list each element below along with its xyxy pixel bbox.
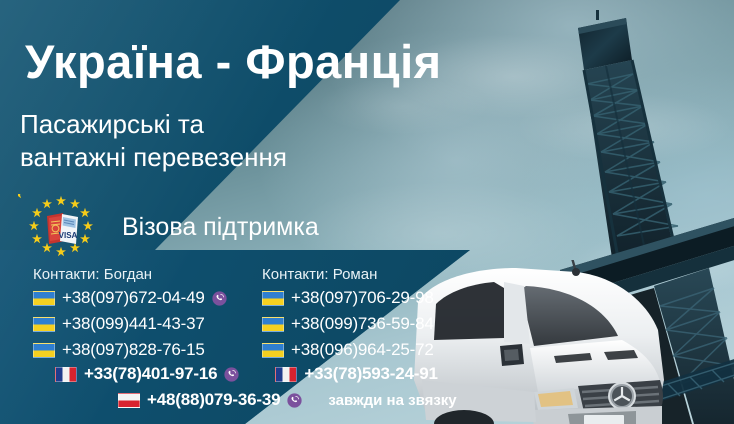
- phone-row[interactable]: +38(099)736-59-84: [262, 314, 434, 334]
- flag-ua-icon: [262, 291, 284, 306]
- flag-fr-icon: [55, 367, 77, 382]
- always-available-label: завжди на звязку: [328, 392, 456, 409]
- phone-row[interactable]: +38(097)706-29-98: [262, 288, 434, 308]
- banner-content: Україна - Франція Пасажирські та вантажн…: [0, 0, 734, 424]
- phone-row[interactable]: +38(096)964-25-72: [262, 340, 434, 360]
- flag-ua-icon: [33, 343, 55, 358]
- contacts-heading: Контакти: Богдан: [33, 266, 227, 283]
- subtitle: Пасажирські та вантажні перевезення: [20, 108, 287, 175]
- advertising-banner: Україна - Франція Пасажирські та вантажн…: [0, 0, 734, 424]
- phone-row[interactable]: +38(097)672-04-49: [33, 288, 227, 308]
- flag-pl-icon: [118, 393, 140, 408]
- poland-phone-row: +48(88)079-36-39 завжди на звязку: [118, 390, 457, 410]
- contacts-heading: Контакти: Роман: [262, 266, 434, 283]
- phone-row[interactable]: +33(78)401-97-16: [55, 364, 239, 384]
- phone-number[interactable]: +33(78)593-24-91: [304, 364, 437, 384]
- flag-ua-icon: [262, 343, 284, 358]
- contacts-column-bohdan: Контакти: Богдан +38(097)672-04-49 +38(0…: [33, 266, 227, 366]
- flag-ua-icon: [262, 317, 284, 332]
- france-phone-row: +33(78)401-97-16 +33(78)593-24-91: [55, 364, 438, 384]
- phone-row[interactable]: +38(099)441-43-37: [33, 314, 227, 334]
- eu-visa-passport-icon: VISA: [18, 194, 104, 260]
- flag-fr-icon: [275, 367, 297, 382]
- phone-number[interactable]: +38(097)828-76-15: [62, 340, 205, 360]
- svg-text:VISA: VISA: [59, 231, 78, 240]
- viber-icon: [224, 367, 239, 382]
- phone-number[interactable]: +38(099)736-59-84: [291, 314, 434, 334]
- phone-row[interactable]: +38(097)828-76-15: [33, 340, 227, 360]
- viber-icon: [212, 291, 227, 306]
- phone-number[interactable]: +38(097)706-29-98: [291, 288, 434, 308]
- page-title: Україна - Франція: [25, 38, 442, 85]
- phone-number[interactable]: +33(78)401-97-16: [84, 364, 217, 384]
- visa-support-label: Візова підтримка: [122, 213, 319, 242]
- viber-icon: [287, 393, 302, 408]
- flag-ua-icon: [33, 317, 55, 332]
- phone-row[interactable]: +33(78)593-24-91: [275, 364, 437, 384]
- contacts-column-roman: Контакти: Роман +38(097)706-29-98 +38(09…: [262, 266, 434, 366]
- phone-number[interactable]: +38(096)964-25-72: [291, 340, 434, 360]
- visa-support-row: VISA Візова підтримка: [18, 194, 319, 260]
- phone-number[interactable]: +38(097)672-04-49: [62, 288, 205, 308]
- flag-ua-icon: [33, 291, 55, 306]
- phone-number[interactable]: +48(88)079-36-39: [147, 390, 280, 410]
- phone-row[interactable]: +48(88)079-36-39: [118, 390, 302, 410]
- phone-number[interactable]: +38(099)441-43-37: [62, 314, 205, 334]
